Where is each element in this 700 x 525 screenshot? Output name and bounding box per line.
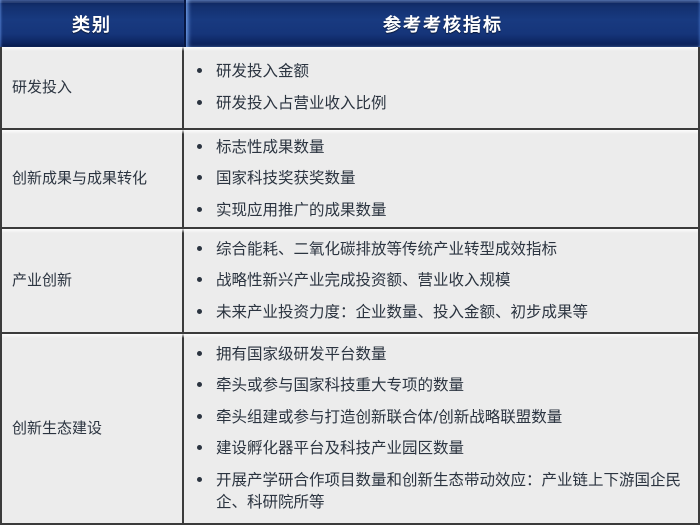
indicator-list: 标志性成果数量 国家科技奖获奖数量 实现应用推广的成果数量 — [184, 136, 688, 221]
bullet-icon — [197, 144, 202, 149]
cell-category: 创新成果与成果转化 — [2, 130, 184, 228]
assessment-indicator-table: 类别 参考考核指标 研发投入 研发投入金额 研发投入占营业收入比例 — [0, 0, 700, 525]
indicator-list: 综合能耗、二氧化碳排放等传统产业转型成效指标 战略性新兴产业完成投资额、营业收入… — [184, 238, 688, 323]
table-header-row: 类别 参考考核指标 — [0, 0, 700, 47]
cell-indicators: 综合能耗、二氧化碳排放等传统产业转型成效指标 战略性新兴产业完成投资额、营业收入… — [184, 229, 698, 332]
list-item-label: 标志性成果数量 — [216, 138, 325, 156]
list-item: 研发投入占营业收入比例 — [184, 92, 688, 114]
list-item-label: 综合能耗、二氧化碳排放等传统产业转型成效指标 — [216, 240, 557, 258]
list-item-label: 实现应用推广的成果数量 — [216, 201, 387, 219]
bullet-icon — [197, 246, 202, 251]
indicator-list: 拥有国家级研发平台数量 牵头或参与国家科技重大专项的数量 牵头组建或参与打造创新… — [184, 343, 688, 514]
list-item: 拥有国家级研发平台数量 — [184, 343, 688, 365]
table-body: 研发投入 研发投入金额 研发投入占营业收入比例 创新成果与成果转化 — [0, 47, 700, 525]
header-label-category: 类别 — [72, 11, 112, 37]
cell-category: 产业创新 — [2, 229, 184, 332]
table-row: 研发投入 研发投入金额 研发投入占营业收入比例 — [2, 47, 698, 128]
table-row: 创新生态建设 拥有国家级研发平台数量 牵头或参与国家科技重大专项的数量 牵头组建… — [2, 332, 698, 523]
list-item-label: 国家科技奖获奖数量 — [216, 169, 356, 187]
list-item-label: 开展产学研合作项目数量和创新生态带动效应：产业链上下游国企民企、科研院所等 — [216, 471, 681, 511]
header-label-indicators: 参考考核指标 — [383, 11, 503, 37]
list-item-label: 研发投入金额 — [216, 62, 309, 80]
cell-indicators: 拥有国家级研发平台数量 牵头或参与国家科技重大专项的数量 牵头组建或参与打造创新… — [184, 334, 698, 523]
header-gloss — [186, 0, 700, 3]
list-item-label: 战略性新兴产业完成投资额、营业收入规模 — [216, 271, 511, 289]
list-item-label: 研发投入占营业收入比例 — [216, 94, 387, 112]
list-item: 战略性新兴产业完成投资额、营业收入规模 — [184, 269, 688, 291]
bullet-icon — [197, 68, 202, 73]
list-item: 综合能耗、二氧化碳排放等传统产业转型成效指标 — [184, 238, 688, 260]
list-item: 建设孵化器平台及科技产业园区数量 — [184, 437, 688, 459]
bullet-icon — [197, 445, 202, 450]
list-item: 开展产学研合作项目数量和创新生态带动效应：产业链上下游国企民企、科研院所等 — [184, 469, 688, 514]
bullet-icon — [197, 477, 202, 482]
list-item: 实现应用推广的成果数量 — [184, 199, 688, 221]
list-item: 牵头组建或参与打造创新联合体/创新战略联盟数量 — [184, 406, 688, 428]
list-item-label: 未来产业投资力度：企业数量、投入金额、初步成果等 — [216, 303, 588, 321]
bullet-icon — [197, 309, 202, 314]
list-item-label: 建设孵化器平台及科技产业园区数量 — [216, 439, 464, 457]
list-item-label: 牵头或参与国家科技重大专项的数量 — [216, 376, 464, 394]
header-cell-indicators: 参考考核指标 — [186, 0, 700, 47]
bullet-icon — [197, 207, 202, 212]
bullet-icon — [197, 100, 202, 105]
bullet-icon — [197, 277, 202, 282]
header-cell-category: 类别 — [0, 0, 186, 47]
bullet-icon — [197, 175, 202, 180]
bullet-icon — [197, 414, 202, 419]
list-item: 国家科技奖获奖数量 — [184, 167, 688, 189]
list-item-label: 牵头组建或参与打造创新联合体/创新战略联盟数量 — [216, 408, 562, 426]
table-row: 创新成果与成果转化 标志性成果数量 国家科技奖获奖数量 实现应用推广的成果数量 — [2, 128, 698, 228]
cell-indicators: 标志性成果数量 国家科技奖获奖数量 实现应用推广的成果数量 — [184, 130, 698, 228]
table-row: 产业创新 综合能耗、二氧化碳排放等传统产业转型成效指标 战略性新兴产业完成投资额… — [2, 227, 698, 332]
list-item: 研发投入金额 — [184, 60, 688, 82]
bullet-icon — [197, 351, 202, 356]
header-gloss — [0, 0, 184, 3]
cell-category: 创新生态建设 — [2, 334, 184, 523]
indicator-list: 研发投入金额 研发投入占营业收入比例 — [184, 60, 688, 114]
list-item-label: 拥有国家级研发平台数量 — [216, 345, 387, 363]
list-item: 标志性成果数量 — [184, 136, 688, 158]
bullet-icon — [197, 382, 202, 387]
cell-category: 研发投入 — [2, 47, 184, 128]
cell-indicators: 研发投入金额 研发投入占营业收入比例 — [184, 47, 698, 128]
list-item: 牵头或参与国家科技重大专项的数量 — [184, 374, 688, 396]
list-item: 未来产业投资力度：企业数量、投入金额、初步成果等 — [184, 301, 688, 323]
